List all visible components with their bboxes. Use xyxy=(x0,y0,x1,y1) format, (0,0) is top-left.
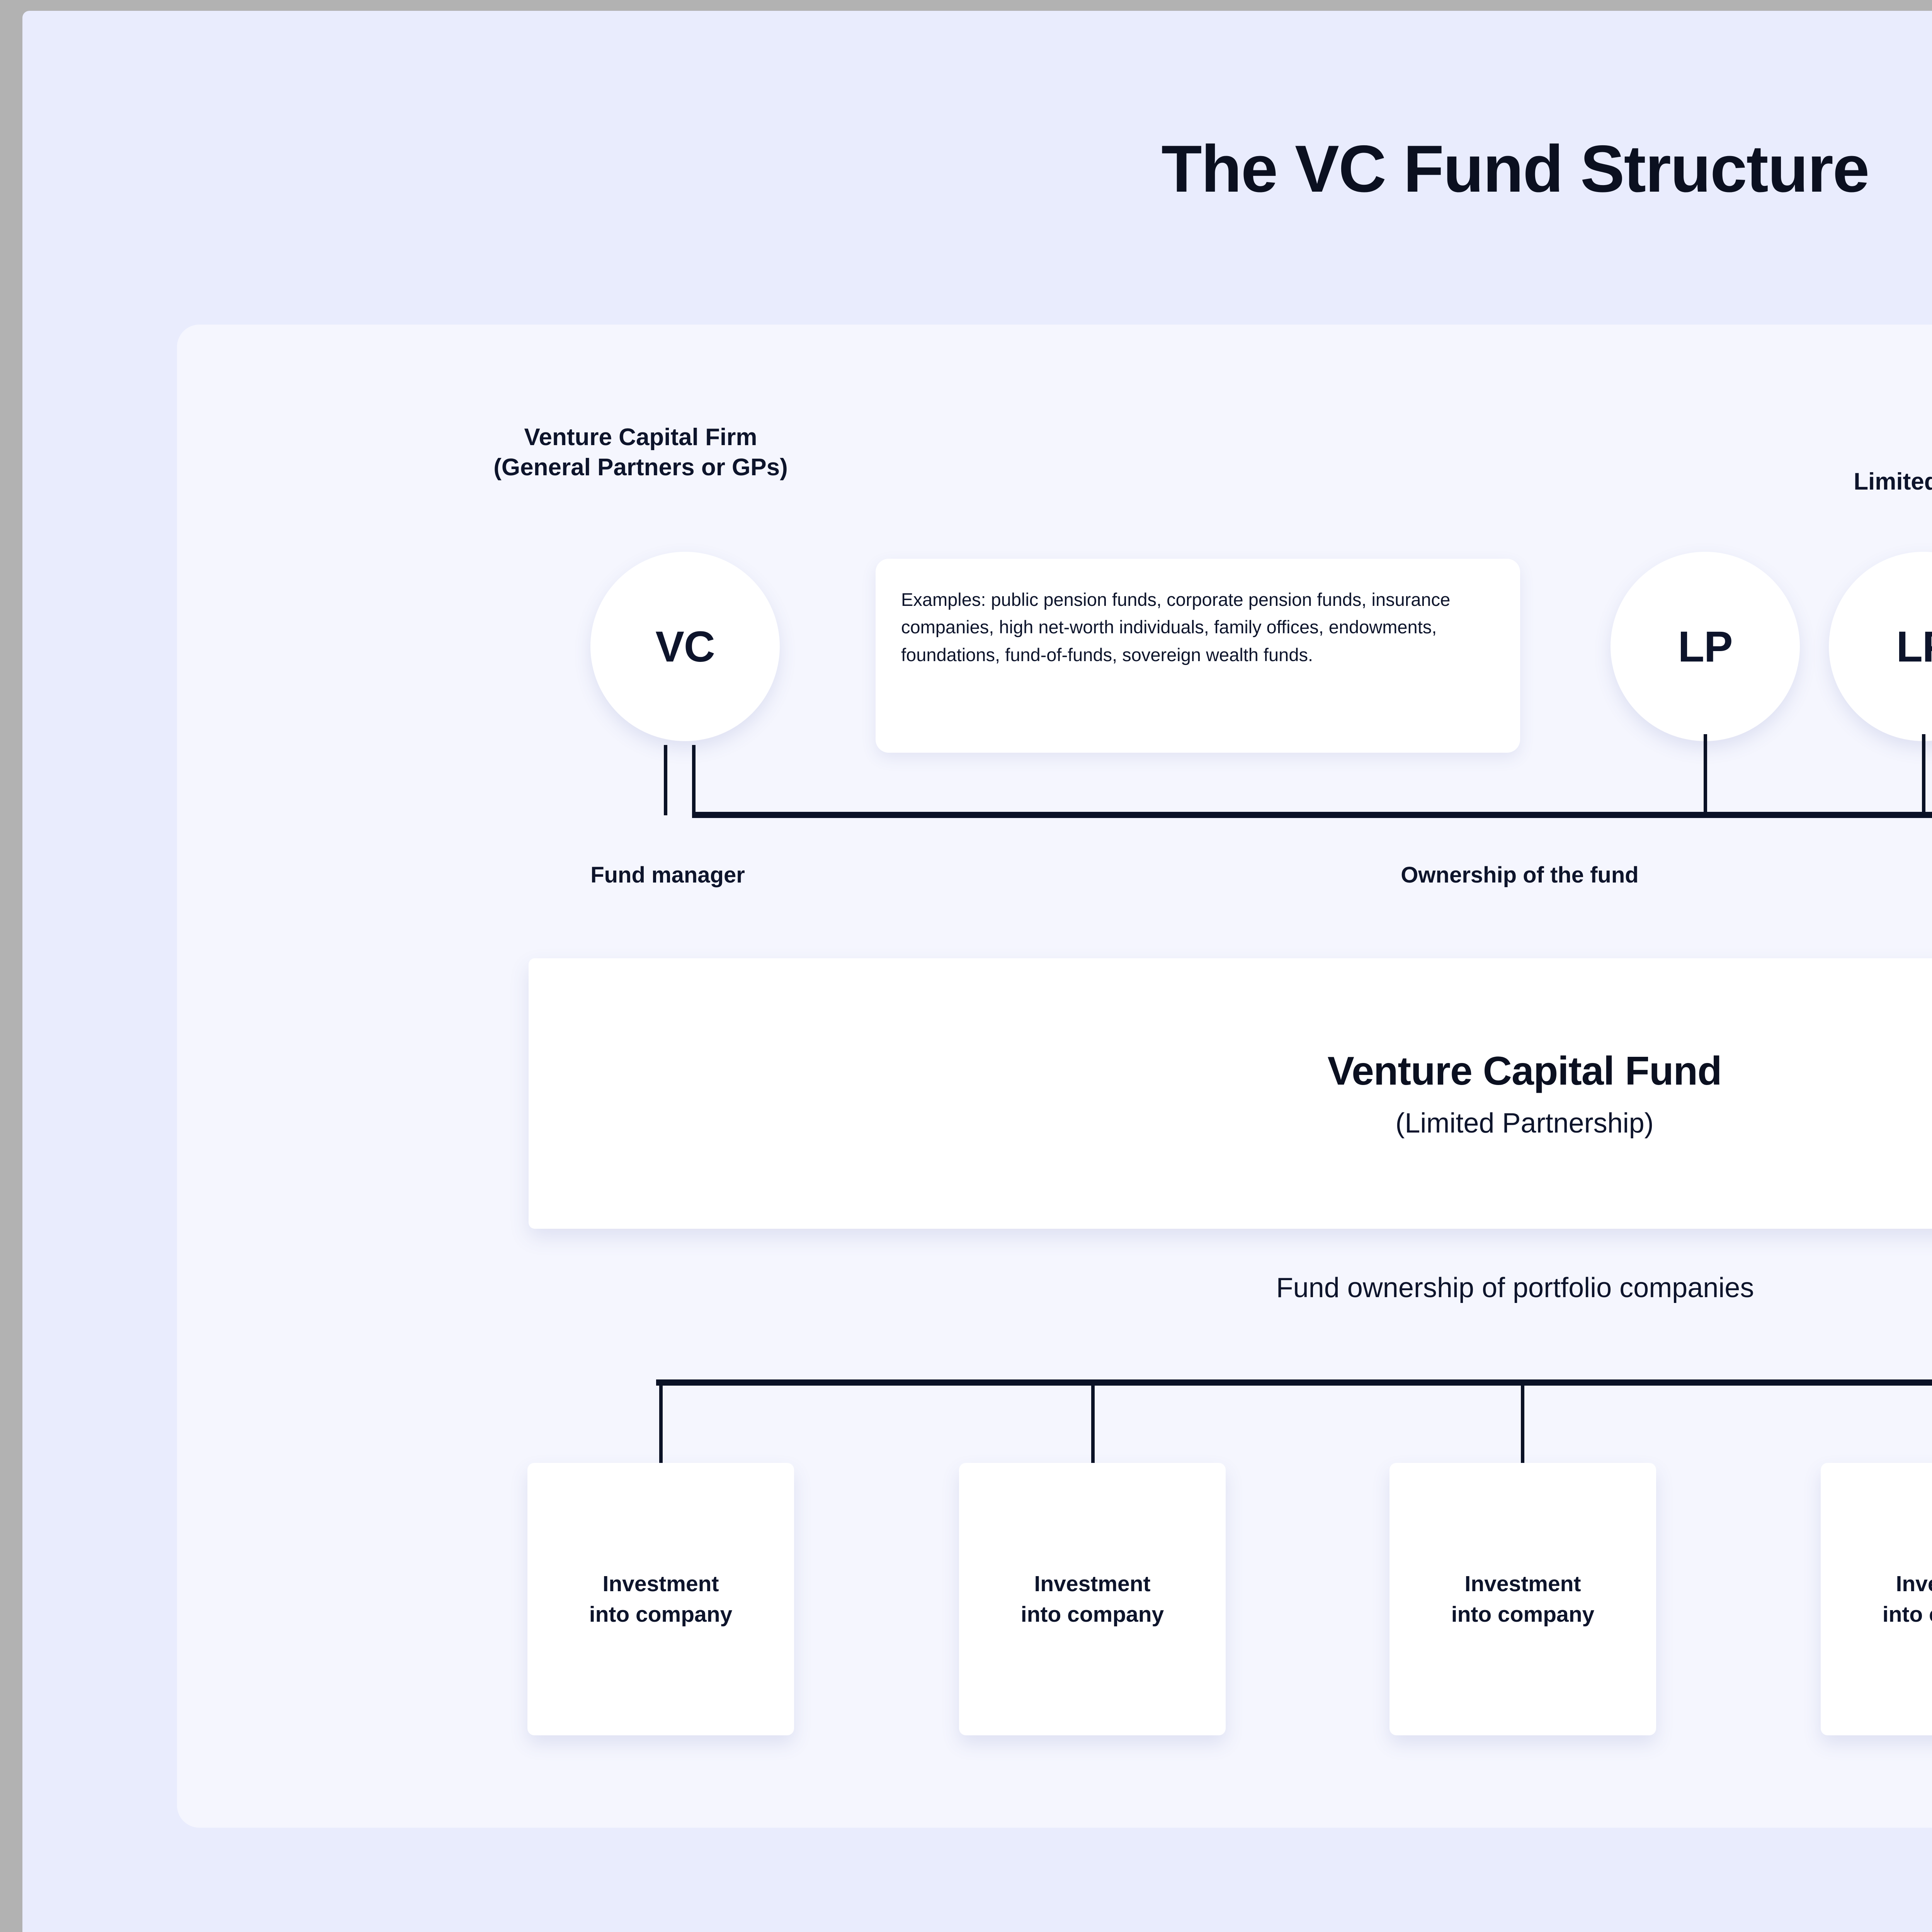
fund-manager-caption: Fund manager xyxy=(521,861,815,889)
ownership-horizontal-bar xyxy=(692,812,1932,818)
limited-partners-heading: Limited Partners (LPs, Investors) xyxy=(1549,467,1932,497)
venture-capital-fund-card[interactable]: Venture Capital Fund (Limited Partnershi… xyxy=(529,958,1932,1229)
lp-connector-line-2 xyxy=(1922,734,1925,813)
investment-box-label: Investment into company xyxy=(589,1569,733,1629)
fund-manager-connector-line xyxy=(664,745,667,815)
investment-box-1[interactable]: Investment into company xyxy=(527,1463,794,1735)
lp-node-label: LP xyxy=(1678,622,1732,672)
investment-box-label: Investment into company xyxy=(1883,1569,1932,1629)
investment-box-label: Investment into company xyxy=(1021,1569,1164,1629)
investment-box-2[interactable]: Investment into company xyxy=(959,1463,1226,1735)
vc-node[interactable]: VC xyxy=(590,552,780,741)
page-canvas: The VC Fund Structure Venture Capital Fi… xyxy=(22,11,1932,1932)
vc-to-fund-connector-line xyxy=(692,745,696,815)
investment-box-4[interactable]: Investment into company xyxy=(1821,1463,1932,1735)
vc-node-label: VC xyxy=(655,622,715,672)
portfolio-horizontal-bar xyxy=(656,1379,1932,1386)
ownership-of-fund-caption: Ownership of the fund xyxy=(1201,861,1838,889)
fund-card-title: Venture Capital Fund xyxy=(1327,1048,1721,1094)
portfolio-connector-line-3 xyxy=(1521,1379,1524,1464)
portfolio-ownership-caption: Fund ownership of portfolio companies xyxy=(22,1270,1932,1306)
portfolio-connector-line-1 xyxy=(659,1379,663,1464)
investment-box-label: Investment into company xyxy=(1451,1569,1595,1629)
window-frame: The VC Fund Structure Venture Capital Fi… xyxy=(0,0,1932,1932)
vc-firm-heading: Venture Capital Firm (General Partners o… xyxy=(428,422,853,483)
lp-node-1[interactable]: LP xyxy=(1611,552,1800,741)
examples-tooltip: Examples: public pension funds, corporat… xyxy=(876,559,1520,753)
lp-connector-line-1 xyxy=(1704,734,1707,813)
page-title: The VC Fund Structure xyxy=(22,131,1932,207)
fund-card-subtitle: (Limited Partnership) xyxy=(1395,1107,1653,1139)
portfolio-connector-line-2 xyxy=(1091,1379,1095,1464)
investment-box-3[interactable]: Investment into company xyxy=(1389,1463,1656,1735)
lp-node-label: LP xyxy=(1896,622,1932,672)
